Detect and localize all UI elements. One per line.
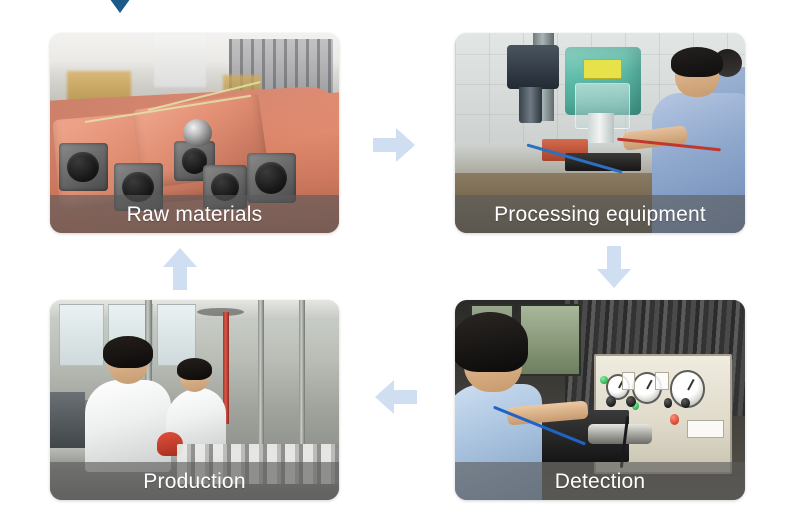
detection-caption: Detection [555, 471, 646, 492]
det-control-knob [664, 398, 673, 408]
det-panel-label [622, 372, 636, 390]
flow-card-processing-equipment[interactable]: Processing equipment [455, 33, 745, 233]
det-control-knob [626, 396, 636, 407]
prod-equipment-cabinet [50, 392, 85, 452]
prod-window [157, 304, 197, 366]
prod-support-post [299, 300, 305, 444]
det-indicator-green [600, 376, 608, 384]
arrow-down-icon [597, 246, 631, 288]
det-indicator-red [670, 414, 680, 425]
det-window [519, 304, 581, 376]
process-flow-diagram: Raw materials [0, 0, 790, 519]
det-panel-label [655, 372, 669, 390]
det-worker-hair [455, 312, 528, 372]
raw-materials-caption-band: Raw materials [50, 195, 339, 233]
detection-photo: Detection [455, 300, 745, 500]
prod-worker-hair [103, 336, 152, 368]
proc-warning-plate [583, 59, 623, 79]
prod-support-post [258, 300, 264, 444]
arrow-left-icon [375, 380, 417, 414]
raw-materials-caption: Raw materials [127, 204, 263, 225]
flow-card-raw-materials[interactable]: Raw materials [50, 33, 339, 233]
proc-worker-hair [671, 47, 723, 77]
flow-card-production[interactable]: Production [50, 300, 339, 500]
detection-caption-band: Detection [455, 462, 745, 500]
production-photo: Production [50, 300, 339, 500]
production-caption-band: Production [50, 462, 339, 500]
arrow-right-icon [373, 128, 415, 162]
arrow-up-icon [163, 248, 197, 290]
processing-equipment-caption: Processing equipment [494, 204, 706, 225]
prod-worker-shirt [85, 380, 172, 472]
raw-tube [59, 143, 108, 191]
processing-equipment-photo: Processing equipment [455, 33, 745, 233]
raw-materials-photo: Raw materials [50, 33, 339, 233]
processing-equipment-caption-band: Processing equipment [455, 195, 745, 233]
det-test-cylinder [588, 424, 652, 444]
proc-drill-spindle [519, 87, 542, 123]
det-control-knob [606, 396, 616, 407]
raw-steel-ball [183, 119, 212, 147]
proc-drill-head [507, 45, 559, 89]
prod-worker-hair [177, 358, 212, 380]
prod-ceiling-fan [197, 308, 243, 316]
raw-background-building [154, 35, 206, 87]
flow-card-detection[interactable]: Detection [455, 300, 745, 500]
proc-machine-neck [588, 113, 614, 145]
prod-window [59, 304, 104, 366]
production-caption: Production [143, 471, 245, 492]
arrow-entry-down-icon [104, 0, 136, 13]
det-panel-plate [687, 420, 724, 438]
det-control-knob [681, 398, 690, 408]
